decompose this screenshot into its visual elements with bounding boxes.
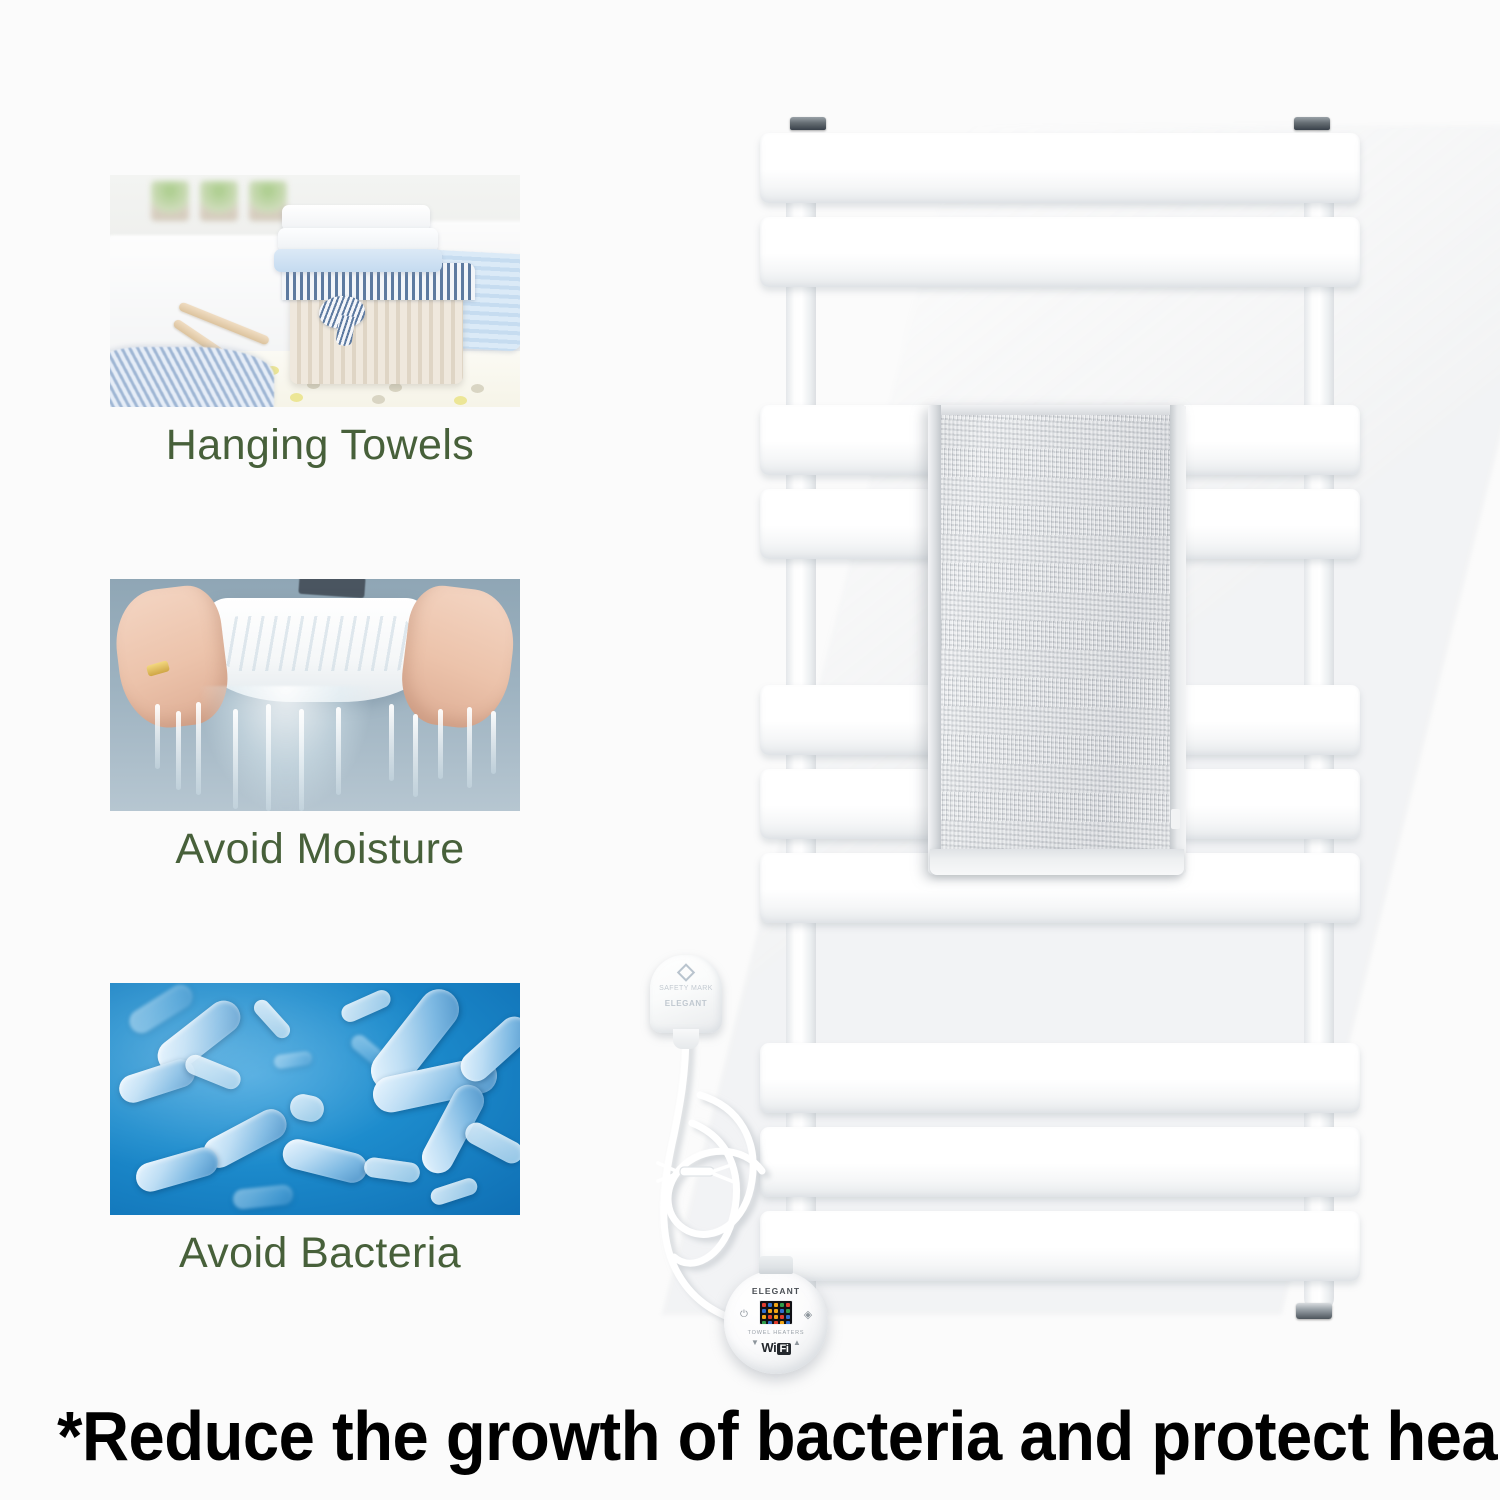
hanging-towels-photo — [110, 175, 520, 407]
temp-down-button[interactable]: ▼ — [748, 1336, 762, 1350]
thermostat-subtitle: TOWEL HEATERS — [724, 1330, 828, 1336]
wifi-badge: Fi — [777, 1343, 790, 1355]
feature-caption-avoid-moisture: Avoid Moisture — [110, 825, 530, 873]
avoid-moisture-photo — [110, 579, 520, 811]
towel-fold-right — [1170, 405, 1186, 875]
folded-towel-white — [278, 228, 438, 251]
wall-bracket-bottom-right — [1296, 1303, 1332, 1319]
feature-column: Hanging Towels Avoid Moisture — [110, 175, 530, 1277]
feature-caption-avoid-bacteria: Avoid Bacteria — [110, 1229, 530, 1277]
feature-card-hanging-towels: Hanging Towels — [110, 175, 530, 469]
avoid-bacteria-photo — [110, 983, 520, 1215]
approval-mark-icon — [677, 963, 695, 981]
wifi-text: Wi — [761, 1340, 776, 1355]
feature-card-avoid-bacteria: Avoid Bacteria — [110, 983, 530, 1277]
hand-shape — [397, 582, 520, 733]
footer-banner: *Reduce the growth of bacteria and prote… — [0, 1396, 1500, 1476]
towel-fold-left — [928, 405, 941, 875]
plant-icon — [151, 181, 189, 221]
towel-hem-bottom — [930, 849, 1184, 875]
feature-caption-hanging-towels: Hanging Towels — [110, 421, 530, 469]
folded-towel-blue — [274, 249, 442, 272]
draped-towel — [928, 405, 1186, 875]
wifi-logo: WiFi — [724, 1340, 828, 1355]
wall-bracket-bottom-left — [788, 1303, 824, 1319]
plant-icon — [200, 181, 238, 221]
folded-towel-white — [282, 205, 430, 231]
striped-cloth-shape — [110, 347, 274, 407]
temp-up-button[interactable]: ▲ — [790, 1336, 804, 1350]
wall-bracket-top-right — [1294, 117, 1330, 130]
heated-towel-rail — [760, 115, 1360, 1315]
plug-safety-text: SAFETY MARK — [650, 985, 722, 992]
plug-cable-neck — [673, 1029, 699, 1049]
towel-hem-top — [930, 405, 1184, 415]
rod-shape — [298, 579, 365, 598]
rail-bar — [760, 217, 1360, 287]
product-stage: SAFETY MARK ELEGANT ELEGANT — [640, 95, 1440, 1395]
rail-bar — [760, 1211, 1360, 1281]
water-splash-shape — [200, 686, 372, 811]
uk-power-plug: SAFETY MARK ELEGANT — [650, 955, 722, 1033]
footer-tagline: *Reduce the growth of bacteria and prote… — [57, 1396, 1500, 1476]
rail-bar — [760, 1043, 1360, 1113]
feature-card-avoid-moisture: Avoid Moisture — [110, 579, 530, 873]
plug-brand-text: ELEGANT — [650, 999, 722, 1008]
wall-bracket-top-left — [790, 117, 826, 130]
rail-bar — [760, 1127, 1360, 1197]
rail-bar — [760, 133, 1360, 203]
towel-care-tag — [1171, 809, 1180, 829]
light-glow — [110, 983, 520, 1215]
